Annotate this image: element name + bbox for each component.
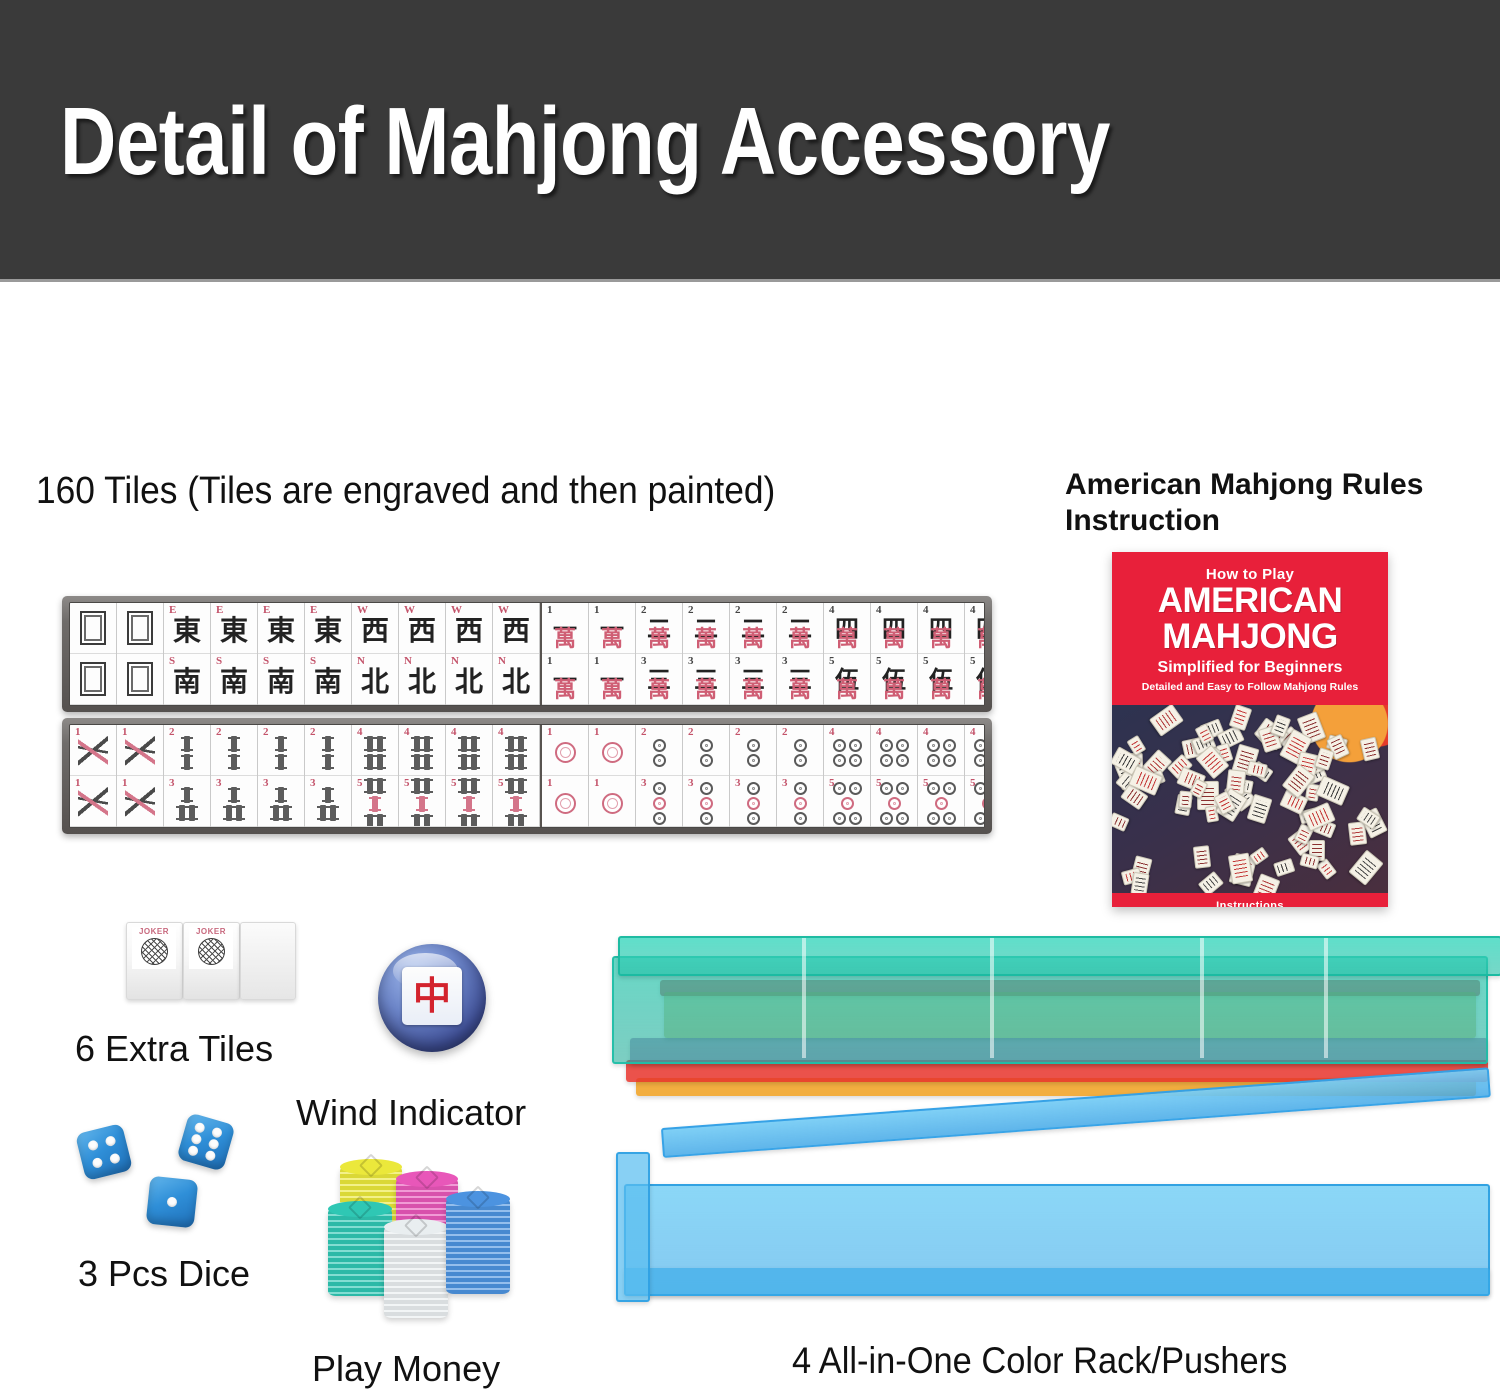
tile-column: 1一萬1一萬 xyxy=(589,603,636,705)
bam-suit-glyph xyxy=(508,736,524,770)
dot-pip xyxy=(935,797,948,810)
bam-suit-glyph xyxy=(367,736,383,770)
tile-crak-5: 5伍萬 xyxy=(824,654,870,705)
wind-indicator-face: 中 xyxy=(402,967,462,1025)
dot-suit-glyph xyxy=(653,782,666,825)
tile-wan-glyph: 萬 xyxy=(930,629,952,651)
dot-row xyxy=(700,739,713,752)
book-cover-tile xyxy=(1112,812,1130,832)
bam-row xyxy=(419,796,425,812)
joker-tile-face: JOKER xyxy=(132,927,176,969)
die-pip xyxy=(167,1197,178,1208)
dot-suit-glyph xyxy=(833,739,862,767)
tile-group-craks: 1一萬1一萬1一萬1一萬2二萬3三萬2二萬3三萬2二萬3三萬2二萬3三萬4四萬5… xyxy=(540,603,985,705)
bamboo-stick xyxy=(508,778,514,794)
dot-pip xyxy=(880,782,893,795)
dot-pip xyxy=(700,754,713,767)
die-6 xyxy=(176,1112,235,1171)
tile-dot-3: 3 xyxy=(683,776,729,827)
book-cover-tile-mark xyxy=(1253,851,1265,862)
tile-crak-3: 3三萬 xyxy=(683,654,729,705)
tile-column: W西N北 xyxy=(493,603,540,705)
tile-corner-label: 3 xyxy=(688,778,694,789)
tile-column: 23 xyxy=(636,725,683,827)
joker-tile-face: JOKER xyxy=(189,927,233,969)
frame-glyph xyxy=(127,611,153,645)
bam-row xyxy=(414,814,430,828)
bamboo-stick xyxy=(283,805,289,821)
tile-corner-label: 4 xyxy=(970,727,976,738)
rack-layer-teal-top xyxy=(618,936,1500,976)
book-cover-tile xyxy=(1179,790,1193,808)
dot-pip xyxy=(833,754,846,767)
book-cover-tile-mark xyxy=(1135,771,1157,790)
tile-glyph: 南 xyxy=(267,668,295,696)
tile-corner-label: 2 xyxy=(735,605,741,616)
tile-corner-label: 4 xyxy=(923,727,929,738)
book-footer-instructions: Instructions xyxy=(1112,893,1388,907)
dot-row xyxy=(700,812,713,825)
dot-suit-glyph xyxy=(880,739,909,767)
tile-corner-label: E xyxy=(216,605,223,616)
caption-rules-line1: American Mahjong Rules xyxy=(1065,468,1423,502)
tile-column: 4四萬5伍萬 xyxy=(918,603,965,705)
tile-column: 23 xyxy=(777,725,824,827)
tile-dot-1: 1 xyxy=(589,776,635,827)
tile-corner-label: 4 xyxy=(404,727,410,738)
dot-suit-glyph xyxy=(833,782,862,825)
dot-suit-glyph xyxy=(653,739,666,767)
tile-tray-bottom: 11112323232345454545 1111232323234545454… xyxy=(62,718,992,834)
bamboo-stick xyxy=(414,778,420,794)
tile-wan-glyph: 萬 xyxy=(742,680,764,702)
tile-crak-5: 5伍萬 xyxy=(965,654,985,705)
tile-crak-3: 3三萬 xyxy=(636,654,682,705)
bamboo-stick xyxy=(184,754,190,770)
bamboo-stick xyxy=(461,778,467,794)
tile-wind-S: S南 xyxy=(258,654,304,705)
dot-row xyxy=(602,793,623,814)
tile-wan-glyph: 萬 xyxy=(883,680,905,702)
tile-corner-label: E xyxy=(263,605,270,616)
tile-corner-label: 5 xyxy=(357,778,363,789)
tile-glyph: 北 xyxy=(408,668,436,696)
book-cover-tile xyxy=(1228,852,1254,884)
tile-column: E東S南 xyxy=(211,603,258,705)
tile-bam-3: 3 xyxy=(258,776,304,827)
dot-pip xyxy=(943,812,956,825)
book-cover-tile-mark xyxy=(1196,850,1207,864)
book-cover-tile-mark xyxy=(1364,741,1377,757)
chip-stack-teal xyxy=(328,1208,392,1296)
tile-glyph: 東 xyxy=(220,617,248,645)
die-pip xyxy=(109,1152,121,1164)
tile-crak-3: 3三萬 xyxy=(777,654,823,705)
tile-wan-glyph: 萬 xyxy=(789,680,811,702)
bamboo-stick xyxy=(424,814,430,828)
dot-suit-glyph xyxy=(555,742,576,763)
book-cover-tile-mark xyxy=(1256,879,1275,893)
tile-corner-label: 2 xyxy=(641,727,647,738)
book-cover-tile-mark xyxy=(1308,808,1329,827)
die-pip xyxy=(91,1157,103,1169)
dot-pip xyxy=(833,782,846,795)
tile-column: 2二萬3三萬 xyxy=(730,603,777,705)
tile-column: W西N北 xyxy=(352,603,399,705)
tile-corner-label: N xyxy=(498,656,506,667)
tile-column: 45 xyxy=(824,725,871,827)
frame-glyph xyxy=(127,662,153,696)
tile-wan-glyph: 萬 xyxy=(836,680,858,702)
tile-column xyxy=(117,603,164,705)
tile-wind-S: S南 xyxy=(211,654,257,705)
tile-corner-label: 1 xyxy=(122,727,128,738)
dot-suit-glyph xyxy=(927,739,956,767)
dot-suit-glyph xyxy=(880,782,909,825)
bamboo-stick xyxy=(179,805,185,821)
chip-stack-top xyxy=(328,1201,392,1217)
bam-row xyxy=(278,787,284,803)
dot-pip xyxy=(888,797,901,810)
tile-column: 23 xyxy=(683,725,730,827)
tile-wind-E: E東 xyxy=(258,603,304,654)
bamboo-stick xyxy=(466,796,472,812)
bamboo-stick xyxy=(367,778,373,794)
book-cover-tile xyxy=(1250,873,1280,894)
dot-pip xyxy=(700,797,713,810)
book-cover-tile-mark xyxy=(1202,751,1223,773)
bam-row xyxy=(513,796,519,812)
rack-hinge-icon xyxy=(1200,938,1204,1058)
tile-corner-label: W xyxy=(404,605,415,616)
tile-bam-5: 5 xyxy=(399,776,445,827)
chip-emboss-icon xyxy=(359,1153,383,1177)
book-cover-tile-mark xyxy=(1274,719,1287,734)
bamboo-stick xyxy=(424,736,430,752)
bamboo-stick xyxy=(414,814,420,828)
tile-column: W西N北 xyxy=(399,603,446,705)
bamboo-stick xyxy=(424,754,430,770)
bam-row xyxy=(414,778,430,794)
tile-corner-label: 5 xyxy=(923,656,929,667)
tile-corner-label: 3 xyxy=(735,656,741,667)
book-cover-tile-mark xyxy=(1155,710,1177,731)
joker-tile: JOKER xyxy=(183,922,240,1000)
tile-corner-label: 3 xyxy=(782,656,788,667)
bamboo-stick xyxy=(278,787,284,803)
bam-row xyxy=(231,787,237,803)
tile-dot-3: 3 xyxy=(777,776,823,827)
tile-corner-label: 1 xyxy=(547,727,553,738)
dot-pip xyxy=(555,742,576,763)
dot-row xyxy=(700,797,713,810)
joker-emblem-icon xyxy=(141,938,168,965)
dot-row xyxy=(794,812,807,825)
bamboo-stick xyxy=(424,778,430,794)
tile-corner-label: 5 xyxy=(498,778,504,789)
dot-pip xyxy=(833,812,846,825)
caption-extra-tiles: 6 Extra Tiles xyxy=(75,1028,273,1069)
book-cover-tile-mark xyxy=(1233,709,1247,726)
dot-row xyxy=(555,793,576,814)
dot-suit-glyph xyxy=(794,782,807,825)
dot-row xyxy=(747,812,760,825)
book-cover-tile-mark xyxy=(1360,811,1375,825)
die-pip xyxy=(204,1150,216,1162)
dot-row xyxy=(794,797,807,810)
bam-row xyxy=(273,805,289,821)
tile-corner-label: 3 xyxy=(735,778,741,789)
tile-corner-label: 3 xyxy=(782,778,788,789)
tile-dot-5: 5 xyxy=(965,776,985,827)
tile-crak-2: 2二萬 xyxy=(683,603,729,654)
dot-pip xyxy=(794,754,807,767)
tile-corner-label: 4 xyxy=(451,727,457,738)
tile-crak-5: 5伍萬 xyxy=(871,654,917,705)
book-cover-tile-mark xyxy=(1251,764,1264,775)
dot-row xyxy=(927,739,956,752)
tile-corner-label: 1 xyxy=(594,727,600,738)
bam-suit-glyph xyxy=(461,736,477,770)
die-pip xyxy=(187,1145,199,1157)
book-cover-tile-mark xyxy=(1130,740,1142,753)
dot-pip xyxy=(943,739,956,752)
tile-wind-E: E東 xyxy=(305,603,351,654)
header-banner: Detail of Mahjong Accessory xyxy=(0,0,1500,282)
dot-pip xyxy=(794,812,807,825)
tile-crak-2: 2二萬 xyxy=(777,603,823,654)
tile-corner-label: 4 xyxy=(923,605,929,616)
tile-column: 2二萬3三萬 xyxy=(683,603,730,705)
die-1 xyxy=(146,1176,199,1229)
dot-pip xyxy=(653,782,666,795)
bam-row xyxy=(461,814,477,828)
tile-corner-label: 4 xyxy=(970,605,976,616)
tile-corner-label: S xyxy=(216,656,222,667)
dot-pip xyxy=(747,797,760,810)
die-pip xyxy=(194,1122,206,1134)
bamboo-stick xyxy=(518,736,524,752)
tile-column: 1一萬1一萬 xyxy=(542,603,589,705)
tile-column: 2二萬3三萬 xyxy=(636,603,683,705)
book-line-detailed: Detailed and Easy to Follow Mahjong Rule… xyxy=(1122,681,1378,693)
tile-crak-1: 1一萬 xyxy=(589,654,635,705)
rules-instruction-book: How to Play AMERICAN MAHJONG Simplified … xyxy=(1112,552,1388,907)
book-cover-tile-mark xyxy=(1193,782,1204,795)
tile-corner-label: N xyxy=(357,656,365,667)
book-cover-tile-mark xyxy=(1318,752,1330,766)
bam-row xyxy=(461,778,477,794)
bam-suit-glyph xyxy=(325,736,331,770)
dot-row xyxy=(747,797,760,810)
dot-row xyxy=(888,797,901,810)
bam-row xyxy=(231,754,237,770)
dot-row xyxy=(747,782,760,795)
frame-glyph xyxy=(80,611,106,645)
dot-pip xyxy=(896,812,909,825)
book-cover-photo xyxy=(1112,705,1388,893)
tile-glyph: 南 xyxy=(220,668,248,696)
tile-corner-label: 2 xyxy=(688,605,694,616)
rack-body-blue-lip xyxy=(624,1268,1490,1296)
tile-corner-label: S xyxy=(263,656,269,667)
book-cover-tile-mark xyxy=(1199,727,1211,740)
tile-glyph: 北 xyxy=(361,668,389,696)
dot-row xyxy=(935,797,948,810)
bamboo-stick xyxy=(189,805,195,821)
tile-crak-4: 4四萬 xyxy=(824,603,870,654)
bam-row xyxy=(414,754,430,770)
tile-bam-4: 4 xyxy=(493,725,539,776)
book-cover-tile-mark xyxy=(1303,856,1315,866)
tile-corner-label: 5 xyxy=(451,778,457,789)
page-title: Detail of Mahjong Accessory xyxy=(60,86,1110,197)
dot-pip xyxy=(927,739,940,752)
tile-dot-2: 2 xyxy=(636,725,682,776)
tile-wind-N: N北 xyxy=(352,654,398,705)
bamboo-stick xyxy=(278,754,284,770)
dot-row xyxy=(700,782,713,795)
tile-dot-5: 5 xyxy=(824,776,870,827)
tile-corner-label: 1 xyxy=(594,605,600,616)
bam-row xyxy=(184,754,190,770)
tile-bam-4: 4 xyxy=(352,725,398,776)
bam-row xyxy=(320,805,336,821)
book-cover-tile-mark xyxy=(1352,826,1364,841)
tile-dot-4: 4 xyxy=(965,725,985,776)
tile-dot-1: 1 xyxy=(542,725,588,776)
tile-corner-label: 1 xyxy=(547,656,553,667)
bamboo-stick xyxy=(419,796,425,812)
dot-suit-glyph xyxy=(602,742,623,763)
dot-row xyxy=(653,812,666,825)
tile-wan-glyph: 萬 xyxy=(836,629,858,651)
book-cover-tile xyxy=(1193,845,1211,868)
bamboo-stick xyxy=(231,787,237,803)
bamboo-stick xyxy=(513,796,519,812)
book-line-american: AMERICAN xyxy=(1122,583,1378,619)
rack-end-cap xyxy=(616,1152,650,1302)
bamboo-stick xyxy=(518,814,524,828)
dot-pip xyxy=(747,812,760,825)
bam-row xyxy=(226,805,242,821)
dot-row xyxy=(927,782,956,795)
tile-glyph: 南 xyxy=(314,668,342,696)
dot-pip xyxy=(974,739,986,752)
dot-row xyxy=(555,742,576,763)
tile-corner-label: S xyxy=(310,656,316,667)
dot-pip xyxy=(974,812,986,825)
tile-dot-2: 2 xyxy=(777,725,823,776)
tile-column xyxy=(70,603,117,705)
caption-wind-indicator: Wind Indicator xyxy=(296,1092,526,1133)
tile-wind-W: W西 xyxy=(446,603,492,654)
dot-row xyxy=(833,754,862,767)
tile-column: 11 xyxy=(542,725,589,827)
die-pip xyxy=(87,1139,99,1151)
tile-glyph: 北 xyxy=(502,668,530,696)
tile-wind-E: E東 xyxy=(211,603,257,654)
book-cover-tile xyxy=(1315,775,1350,806)
dot-pip xyxy=(849,812,862,825)
die-pip xyxy=(208,1138,220,1150)
tile-corner-label: 3 xyxy=(641,778,647,789)
tile-wan-glyph: 萬 xyxy=(554,680,576,702)
one-bam-bird-glyph xyxy=(78,733,108,771)
tile-corner-label: W xyxy=(498,605,509,616)
dot-row xyxy=(833,782,862,795)
blue-rack-pusher xyxy=(616,1118,1496,1333)
tile-corner-label: 5 xyxy=(970,656,976,667)
dot-pip xyxy=(849,782,862,795)
dot-row xyxy=(974,812,986,825)
bamboo-stick xyxy=(367,754,373,770)
tile-bam-5: 5 xyxy=(446,776,492,827)
tile-corner-label: 2 xyxy=(169,727,175,738)
dot-pip xyxy=(794,782,807,795)
tile-wind-W: W西 xyxy=(399,603,445,654)
dot-pip xyxy=(653,797,666,810)
book-cover-tile xyxy=(1272,858,1295,878)
tile-column: 11 xyxy=(589,725,636,827)
bamboo-stick xyxy=(508,814,514,828)
bam-row xyxy=(508,754,524,770)
tile-crak-4: 4四萬 xyxy=(965,603,985,654)
tile-column: E東S南 xyxy=(305,603,352,705)
bamboo-stick xyxy=(377,736,383,752)
tile-corner-label: 3 xyxy=(641,656,647,667)
caption-160-tiles: 160 Tiles (Tiles are engraved and then p… xyxy=(36,470,775,513)
play-money-group xyxy=(322,1158,532,1333)
book-cover-tile-mark xyxy=(1277,862,1291,874)
caption-play-money: Play Money xyxy=(312,1348,500,1389)
bamboo-stick xyxy=(377,778,383,794)
tile-glyph: 西 xyxy=(502,617,530,645)
dot-row xyxy=(974,754,986,767)
bamboo-stick xyxy=(231,754,237,770)
dot-row xyxy=(927,812,956,825)
tile-corner-label: 2 xyxy=(782,727,788,738)
book-cover-tile xyxy=(1130,872,1150,894)
dot-pip xyxy=(943,754,956,767)
tile-column: 45 xyxy=(352,725,399,827)
dot-row xyxy=(833,812,862,825)
dot-pip xyxy=(982,797,986,810)
dot-row xyxy=(880,754,909,767)
dot-pip xyxy=(700,782,713,795)
bam-row xyxy=(367,814,383,828)
book-line-simplified: Simplified for Beginners xyxy=(1122,659,1378,677)
book-cover-tile xyxy=(1198,871,1224,893)
tile-group-winds: E東S南E東S南E東S南E東S南W西N北W西N北W西N北W西N北 xyxy=(70,603,540,705)
dot-row xyxy=(927,754,956,767)
tile-wan-glyph: 萬 xyxy=(977,680,985,702)
bam-row xyxy=(372,796,378,812)
tile-dot-3: 3 xyxy=(730,776,776,827)
dot-row xyxy=(833,739,862,752)
bamboo-stick xyxy=(377,754,383,770)
dot-suit-glyph xyxy=(700,739,713,767)
tile-bam-5: 5 xyxy=(493,776,539,827)
tile-glyph: 北 xyxy=(455,668,483,696)
die-pip xyxy=(104,1135,116,1147)
tile-wan-glyph: 萬 xyxy=(930,680,952,702)
die-4 xyxy=(75,1123,133,1181)
tile-column: 45 xyxy=(965,725,985,827)
tile-bam-2: 2 xyxy=(305,725,351,776)
dot-row xyxy=(794,782,807,795)
tile-glyph: 東 xyxy=(267,617,295,645)
